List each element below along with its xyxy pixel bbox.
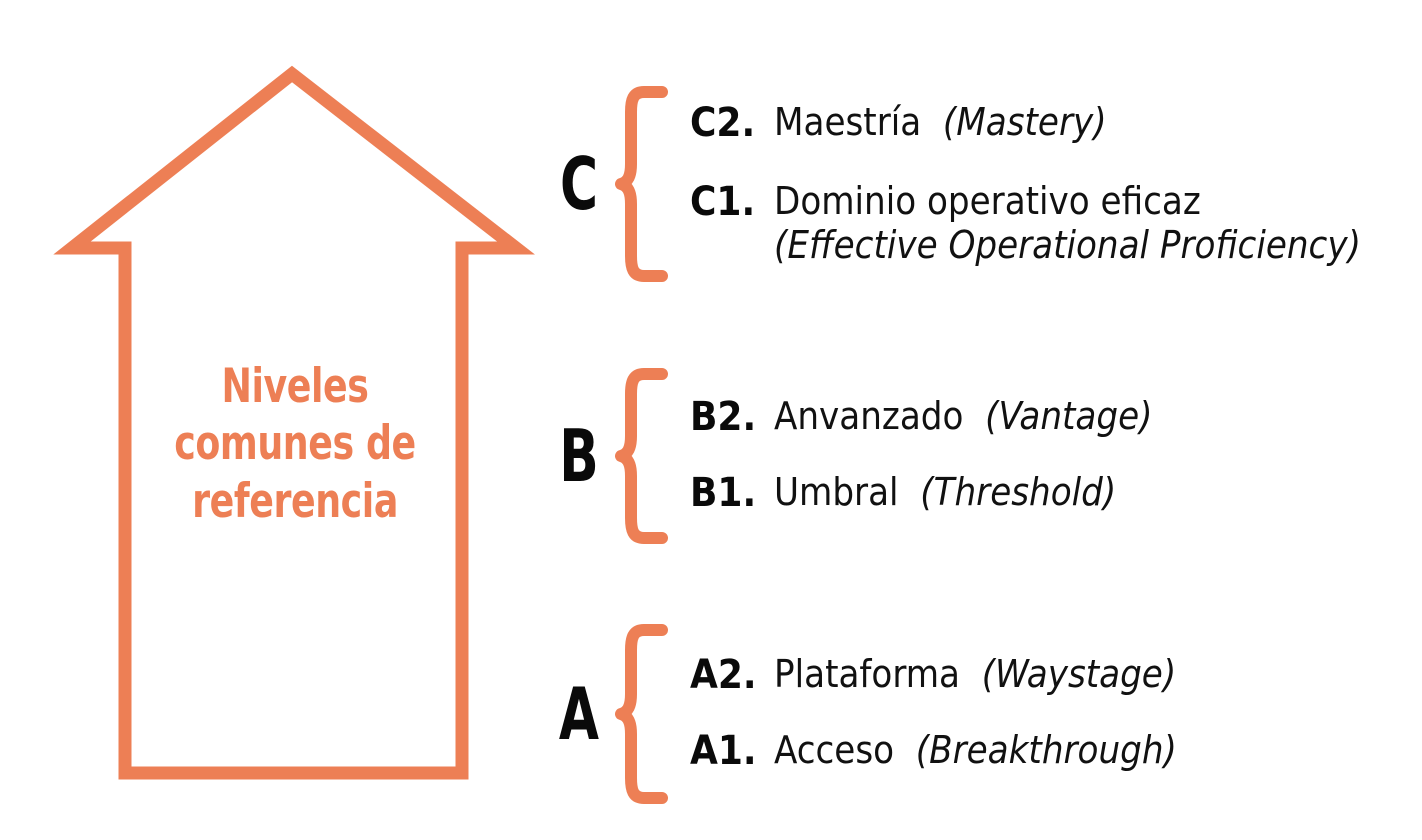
level-code: A1. [690,729,774,775]
level-label-spanish: Umbral [774,470,899,514]
level-label-english: (Waystage) [982,652,1177,696]
level-label-english: (Effective Operational Proficiency) [774,224,1361,267]
level-item: B1. Umbral (Threshold) [690,471,1152,517]
arrow-label-line-3: referencia [162,473,429,530]
level-item: C1. Dominio operativo eficaz (Effective … [690,180,1361,267]
level-items-b: B2. Anvanzado (Vantage) B1. Umbral (Thre… [676,395,1152,516]
curly-brace-icon-a [618,624,676,804]
level-item: B2. Anvanzado (Vantage) [690,395,1152,441]
cefr-levels-diagram: Niveles comunes de referencia C C2. Maes… [0,0,1422,840]
level-label-spanish: Acceso [774,728,894,772]
level-label: Maestría (Mastery) [774,101,1107,144]
level-code: B1. [690,471,774,517]
level-group-letter-b: B [548,420,610,492]
levels-column: C C2. Maestría (Mastery) C1. Domi [540,0,1422,840]
level-label: Acceso (Breakthrough) [774,729,1177,772]
level-label-spanish: Maestría [774,100,921,144]
arrow-label: Niveles comunes de referencia [162,358,429,530]
level-items-a: A2. Plataforma (Waystage) A1. Acceso (Br… [676,653,1177,774]
level-code: B2. [690,395,774,441]
level-items-c: C2. Maestría (Mastery) C1. Dominio opera… [676,101,1361,267]
level-group-letter-c: C [548,148,610,220]
level-code: A2. [690,653,774,699]
level-group-letter-a: A [548,678,610,750]
level-group-a: A A2. Plataforma (Waystage) A1. A [540,624,1177,804]
level-item: A1. Acceso (Breakthrough) [690,729,1177,775]
level-group-b: B B2. Anvanzado (Vantage) B1. Umb [540,368,1152,544]
level-group-c: C C2. Maestría (Mastery) C1. Domi [540,86,1361,282]
level-label-spanish: Plataforma [774,652,960,696]
level-label-english: (Mastery) [943,100,1107,144]
level-label: Umbral (Threshold) [774,471,1116,514]
up-arrow-graphic: Niveles comunes de referencia [0,0,540,840]
level-label-spanish: Anvanzado [774,394,963,438]
level-code: C1. [690,180,774,226]
level-code: C2. [690,101,774,147]
level-label-spanish: Dominio operativo eficaz [774,179,1201,223]
level-label-english: (Vantage) [985,394,1152,438]
curly-brace-icon-b [618,368,676,544]
level-item: C2. Maestría (Mastery) [690,101,1361,147]
level-label-english: (Threshold) [920,470,1116,514]
curly-brace-icon-c [618,86,676,282]
level-label-english: (Breakthrough) [916,728,1177,772]
level-label: Dominio operativo eficaz (Effective Oper… [774,180,1361,267]
arrow-label-line-1: Niveles [162,358,429,415]
level-label: Plataforma (Waystage) [774,653,1176,696]
level-item: A2. Plataforma (Waystage) [690,653,1177,699]
arrow-label-line-2: comunes de [162,415,429,472]
level-label: Anvanzado (Vantage) [774,395,1152,438]
